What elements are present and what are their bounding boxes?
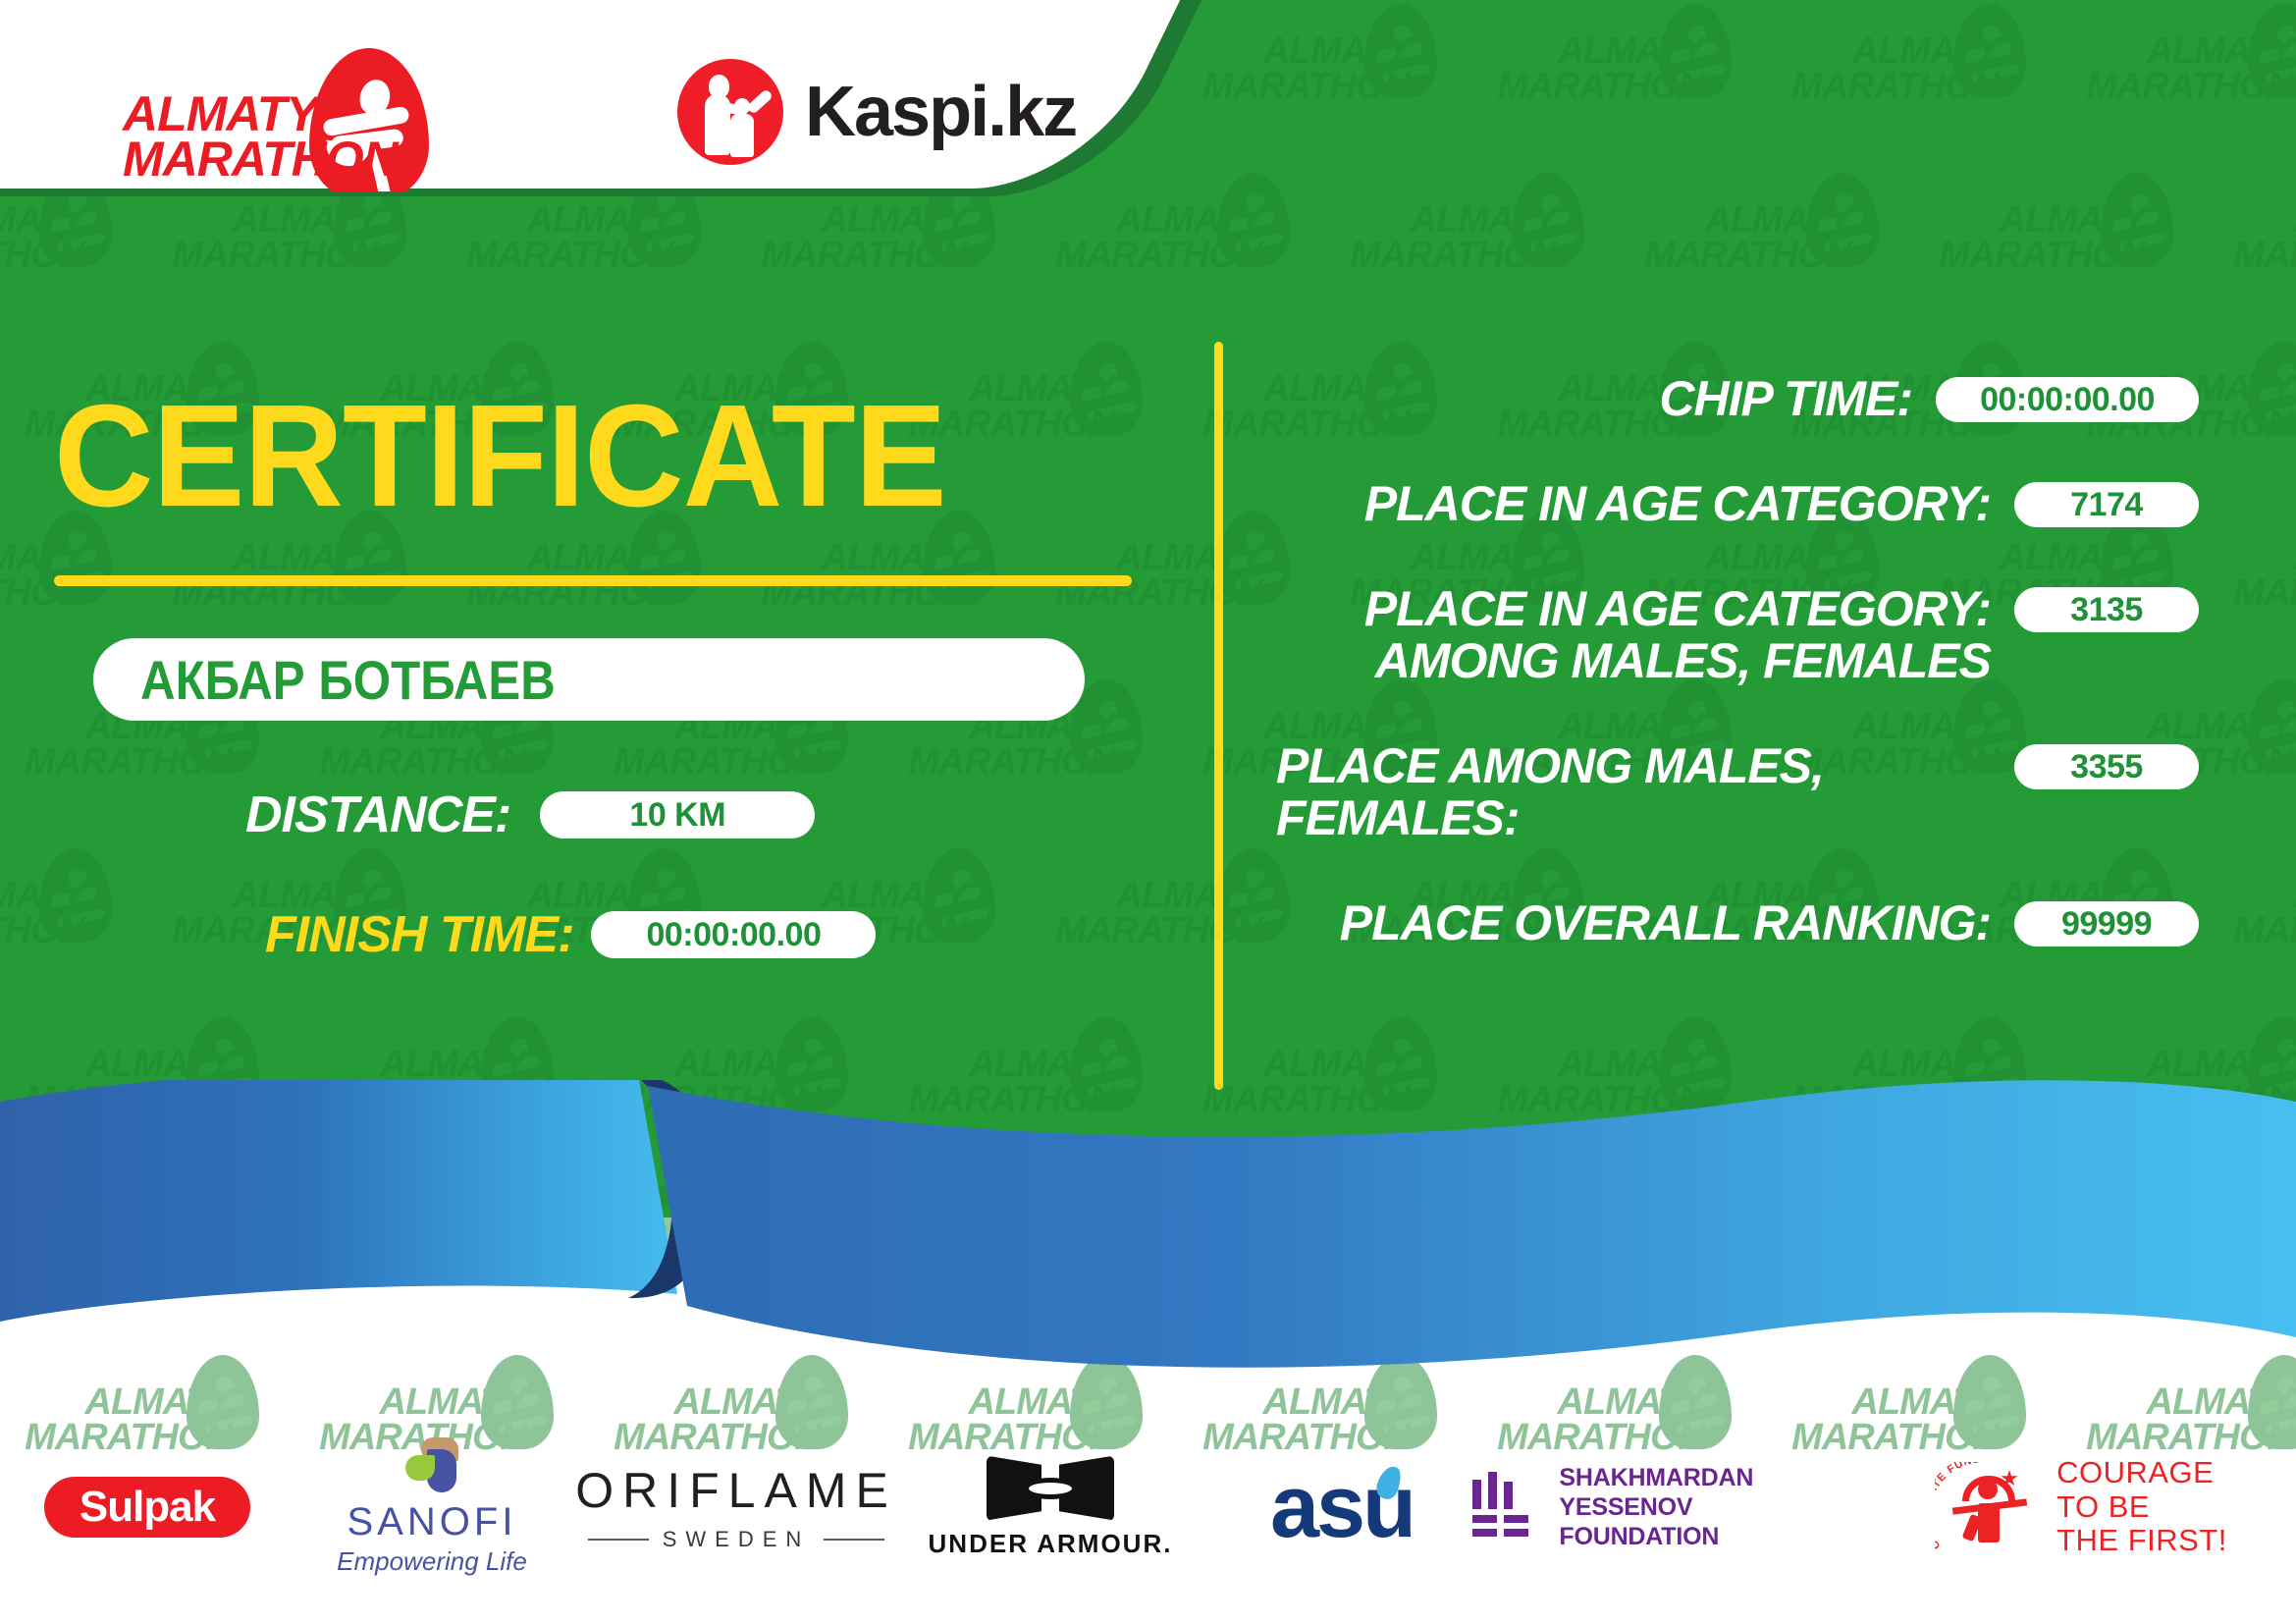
oriflame-sub: SWEDEN (663, 1527, 811, 1552)
sponsor-asu: asu (1198, 1472, 1472, 1543)
athlete-name-value: АКБАР БОТБАЕВ (140, 648, 556, 712)
certificate-canvas: ALMATYMARATHONALMATYMARATHONALMATYMARATH… (0, 0, 2296, 1624)
watermark-tile: ALMATYMARATHON (1031, 169, 1325, 338)
slogan-line-2: TO BE (2056, 1490, 2227, 1525)
under-armour-monogram-icon (987, 1456, 1114, 1521)
place-among-gender-row: PLACE AMONG MALES, FEMALES: 3355 (1276, 740, 2199, 844)
watermark-wordmark: ALMATYMARATHON (1620, 202, 1851, 274)
distance-row: DISTANCE: 10 KM (245, 785, 815, 844)
place-age-category-row: PLACE IN AGE CATEGORY: 7174 (1276, 478, 2199, 530)
watermark-wordmark: ALMATYMARATHON (2209, 540, 2296, 612)
watermark-tile: ALMATYMARATHON (1325, 169, 1620, 338)
ribbon-shape (0, 1080, 2296, 1414)
watermark-wordmark: ALMATYMARATHON (1767, 33, 1999, 105)
watermark-wordmark: ALMATYMARATHON (0, 202, 84, 274)
watermark-wordmark: ALMATYMARATHON (2209, 202, 2296, 274)
sulpak-wordmark: Sulpak (44, 1477, 250, 1538)
watermark-wordmark: ALMATYMARATHON (147, 202, 379, 274)
watermark-tile: ALMATYMARATHON (1178, 0, 1472, 169)
slogan-line-1: COURAGE (2056, 1456, 2227, 1490)
watermark-tile: ALMATYMARATHON (1914, 169, 2209, 338)
kaspi-family-circle-icon (677, 59, 783, 165)
finish-time-value: 00:00:00.00 (591, 911, 876, 958)
event-ribbon: APRIL 21 st RUN FOR SENSATIONS (0, 1080, 2296, 1414)
sanofi-tagline: Empowering Life (337, 1546, 527, 1577)
label-line-2: AMONG MALES, FEMALES (1276, 635, 1991, 687)
place-age-category-gender-label: PLACE IN AGE CATEGORY: AMONG MALES, FEMA… (1276, 583, 2014, 687)
place-age-category-label: PLACE IN AGE CATEGORY: (1276, 478, 2014, 530)
sponsor-bar: Sulpak SANOFI Empowering Life ORIFLAME S… (0, 1414, 2296, 1600)
corporate-fund-runner-icon: CORPORATE FUND ★ (1935, 1454, 2041, 1560)
sponsor-corporate-fund: CORPORATE FUND ★ COURAGE TO BE THE FIRST… (1885, 1454, 2277, 1560)
oriflame-rule-left (588, 1539, 649, 1541)
place-overall-label: PLACE OVERALL RANKING: (1276, 897, 2014, 949)
yessenov-line-1: SHAKHMARDAN YESSENOV (1559, 1463, 1885, 1522)
column-divider (1214, 342, 1223, 1090)
watermark-wordmark: ALMATYMARATHON (1914, 202, 2146, 274)
watermark-wordmark: ALMATYMARATHON (1325, 202, 1557, 274)
header-content: ALMATY MARATHON Kaspi.kz (0, 0, 1217, 191)
finish-time-row: FINISH TIME: 00:00:00.00 (265, 905, 876, 964)
place-overall-row: PLACE OVERALL RANKING: 99999 (1276, 897, 2199, 949)
watermark-wordmark: ALMATYMARATHON (1031, 878, 1262, 949)
title-underline (54, 575, 1132, 586)
watermark-wordmark: ALMATYMARATHON (2209, 878, 2296, 949)
almaty-line: ALMATY (123, 91, 363, 136)
place-age-category-gender-value: 3135 (2014, 587, 2199, 632)
yessenov-bars-icon (1472, 1472, 1533, 1543)
chip-time-row: CHIP TIME: 00:00:00.00 (1276, 373, 2199, 425)
page-title: CERTIFICATE (54, 373, 946, 540)
oriflame-wordmark: ORIFLAME (575, 1462, 897, 1519)
watermark-tile: ALMATYMARATHON (1620, 169, 1914, 338)
watermark-tile: ALMATYMARATHON (2209, 844, 2296, 1013)
watermark-tile: ALMATYMARATHON (2061, 0, 2296, 169)
almaty-marathon-wordmark: ALMATY MARATHON (123, 91, 363, 182)
watermark-tile: ALMATYMARATHON (1472, 0, 1767, 169)
watermark-wordmark: ALMATYMARATHON (1031, 202, 1262, 274)
place-overall-value: 99999 (2014, 901, 2199, 947)
almaty-marathon-logo: ALMATY MARATHON (123, 44, 437, 172)
place-among-gender-label: PLACE AMONG MALES, FEMALES: (1276, 740, 2014, 844)
watermark-wordmark: ALMATYMARATHON (736, 202, 968, 274)
place-age-category-value: 7174 (2014, 482, 2199, 527)
label-line-2: FEMALES: (1276, 792, 1991, 844)
yessenov-wordmark: SHAKHMARDAN YESSENOV FOUNDATION (1559, 1463, 1885, 1551)
watermark-tile: ALMATYMARATHON (1767, 0, 2061, 169)
kaspi-wordmark: Kaspi.kz (805, 72, 1076, 152)
sponsor-under-armour: UNDER ARMOUR. (903, 1456, 1198, 1559)
watermark-wordmark: ALMATYMARATHON (1472, 33, 1704, 105)
under-armour-wordmark: UNDER ARMOUR. (929, 1529, 1173, 1559)
results-panel: CHIP TIME: 00:00:00.00 PLACE IN AGE CATE… (1276, 373, 2199, 987)
watermark-wordmark: ALMATYMARATHON (442, 202, 673, 274)
yessenov-line-2: FOUNDATION (1559, 1522, 1885, 1551)
chip-time-value: 00:00:00.00 (1936, 377, 2199, 422)
label-line-1: PLACE IN AGE CATEGORY: (1276, 583, 1991, 635)
sanofi-wordmark: SANOFI (337, 1500, 527, 1544)
place-among-gender-value: 3355 (2014, 744, 2199, 789)
watermark-wordmark: ALMATYMARATHON (2061, 33, 2293, 105)
watermark-tile: ALMATYMARATHON (2209, 507, 2296, 676)
athlete-name-field: АКБАР БОТБАЕВ (93, 638, 1085, 721)
watermark-tile: ALMATYMARATHON (2209, 169, 2296, 338)
corporate-fund-slogan: COURAGE TO BE THE FIRST! (2056, 1456, 2227, 1558)
watermark-tile: ALMATYMARATHON (0, 844, 147, 1013)
sponsor-yessenov-foundation: SHAKHMARDAN YESSENOV FOUNDATION (1472, 1463, 1885, 1551)
watermark-wordmark: ALMATYMARATHON (0, 878, 84, 949)
distance-label: DISTANCE: (245, 785, 510, 844)
sponsor-sanofi: SANOFI Empowering Life (294, 1437, 569, 1577)
oriflame-rule-right (824, 1539, 884, 1541)
distance-value: 10 KM (540, 791, 815, 839)
marathon-line: MARATHON (123, 136, 363, 182)
chip-time-label: CHIP TIME: (1276, 373, 1936, 425)
finish-time-label: FINISH TIME: (265, 905, 573, 964)
sponsor-sulpak: Sulpak (0, 1477, 294, 1538)
label-line-1: PLACE AMONG MALES, (1276, 740, 1991, 792)
place-age-category-gender-row: PLACE IN AGE CATEGORY: AMONG MALES, FEMA… (1276, 583, 2199, 687)
slogan-line-3: THE FIRST! (2056, 1524, 2227, 1558)
kaspi-logo: Kaspi.kz (677, 59, 1076, 165)
sponsor-oriflame: ORIFLAME SWEDEN (569, 1462, 903, 1552)
sanofi-leaf-icon (401, 1437, 462, 1494)
